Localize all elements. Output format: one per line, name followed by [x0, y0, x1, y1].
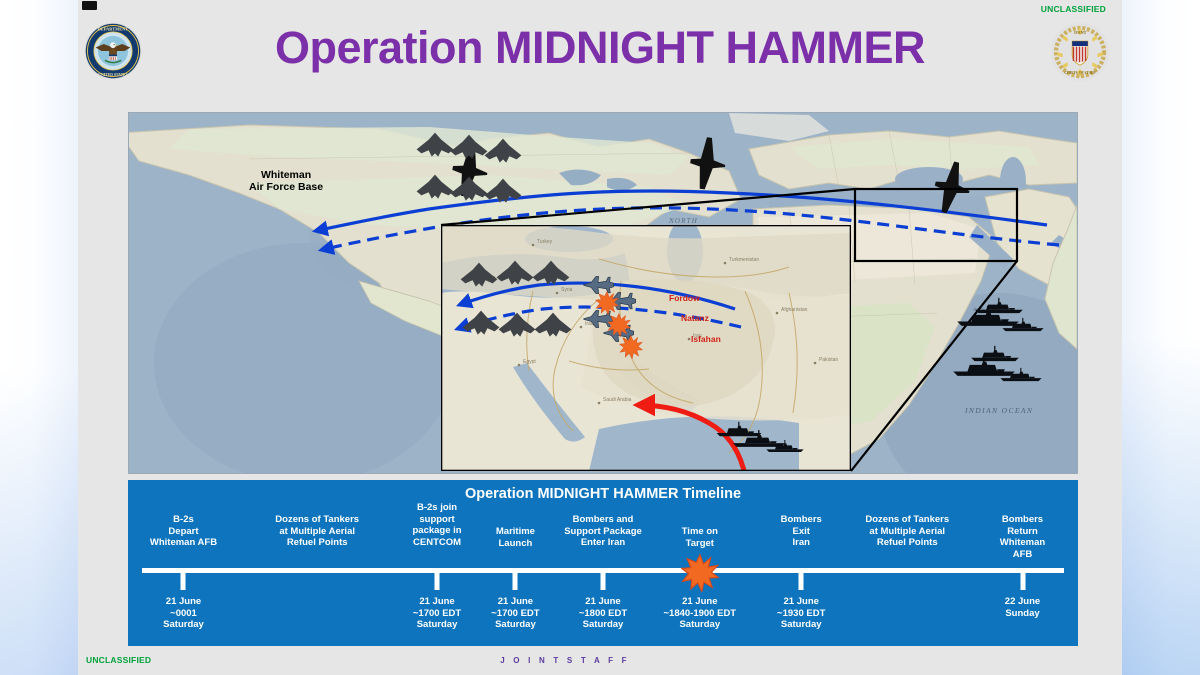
svg-text:Afghanistan: Afghanistan — [781, 307, 808, 313]
time-on-target-burst-icon — [681, 554, 719, 592]
timeline-date-label-8: 22 JuneSunday — [1005, 596, 1040, 619]
map-target-label-fordow: Fordow — [669, 293, 700, 303]
timeline-date-label-5: 21 June~1840-1900 EDTSaturday — [663, 596, 736, 631]
timeline-event-4-line-1: Support Package — [564, 526, 642, 538]
timeline-date-3-line-1: ~1700 EDT — [491, 608, 539, 620]
svg-text:Syria: Syria — [561, 287, 573, 293]
svg-text:INDIAN OCEAN: INDIAN OCEAN — [964, 406, 1033, 415]
timeline-event-2-line-1: support — [412, 514, 461, 526]
svg-text:Saudi Arabia: Saudi Arabia — [603, 397, 632, 403]
timeline-event-6-line-0: Bombers — [781, 514, 822, 526]
timeline-event-5-line-0: Time on — [682, 526, 718, 538]
timeline-event-label-3: MaritimeLaunch — [496, 526, 535, 549]
timeline-date-6-line-1: ~1930 EDT — [777, 608, 825, 620]
timeline-event-1-line-1: at Multiple Aerial — [275, 526, 359, 538]
timeline-date-2-line-2: Saturday — [413, 619, 461, 631]
svg-text:Pakistan: Pakistan — [819, 357, 838, 363]
svg-text:Turkmenistan: Turkmenistan — [729, 257, 759, 263]
timeline-date-0-line-2: Saturday — [163, 619, 204, 631]
timeline-tick-8 — [1020, 573, 1025, 590]
timeline-date-3-line-2: Saturday — [491, 619, 539, 631]
svg-text:NORTH: NORTH — [668, 217, 698, 225]
timeline-date-4-line-0: 21 June — [579, 596, 627, 608]
timeline-event-2-line-0: B-2s join — [412, 502, 461, 514]
timeline-event-label-4: Bombers andSupport PackageEnter Iran — [564, 514, 642, 549]
map-graphic: NORTH ATLANTIC OCEAN INDIAN OCEAN Arabia… — [129, 113, 1077, 473]
timeline-event-4-line-2: Enter Iran — [564, 537, 642, 549]
map-target-label-isfahan: Isfahan — [691, 334, 721, 344]
timeline-date-3-line-0: 21 June — [491, 596, 539, 608]
timeline-date-2-line-1: ~1700 EDT — [413, 608, 461, 620]
operation-timeline: Operation MIDNIGHT HAMMER Timeline B-2sD… — [128, 480, 1078, 646]
timeline-date-label-6: 21 June~1930 EDTSaturday — [777, 596, 825, 631]
timeline-event-label-2: B-2s joinsupportpackage inCENTCOM — [412, 502, 461, 548]
timeline-date-0-line-1: ~0001 — [163, 608, 204, 620]
timeline-event-label-8: BombersReturnWhiteman AFB — [995, 514, 1051, 560]
timeline-event-6-line-2: Iran — [781, 537, 822, 549]
timeline-date-6-line-0: 21 June — [777, 596, 825, 608]
timeline-date-5-line-0: 21 June — [663, 596, 736, 608]
svg-text:Egypt: Egypt — [523, 359, 536, 365]
timeline-date-4-line-1: ~1800 EDT — [579, 608, 627, 620]
timeline-event-2-line-2: package in — [412, 525, 461, 537]
timeline-date-label-4: 21 June~1800 EDTSaturday — [579, 596, 627, 631]
operation-map: NORTH ATLANTIC OCEAN INDIAN OCEAN Arabia… — [128, 112, 1078, 474]
timeline-date-4-line-2: Saturday — [579, 619, 627, 631]
timeline-event-7-line-1: at Multiple Aerial — [865, 526, 949, 538]
timeline-event-4-line-0: Bombers and — [564, 514, 642, 526]
timeline-date-6-line-2: Saturday — [777, 619, 825, 631]
timeline-date-label-0: 21 June~0001Saturday — [163, 596, 204, 631]
footer-joint-staff: J O I N T S T A F F — [78, 656, 1122, 665]
timeline-date-2-line-0: 21 June — [413, 596, 461, 608]
timeline-event-1-line-2: Refuel Points — [275, 537, 359, 549]
timeline-event-8-line-2: Whiteman AFB — [995, 537, 1051, 560]
timeline-tick-0 — [181, 573, 186, 590]
whiteman-line-1: Whiteman — [249, 169, 323, 181]
timeline-event-label-5: Time onTarget — [682, 526, 718, 549]
timeline-event-1-line-0: Dozens of Tankers — [275, 514, 359, 526]
timeline-date-label-3: 21 June~1700 EDTSaturday — [491, 596, 539, 631]
timeline-event-8-line-0: Bombers — [995, 514, 1051, 526]
map-label-whiteman-afb: Whiteman Air Force Base — [249, 169, 323, 194]
whiteman-line-2: Air Force Base — [249, 181, 323, 193]
timeline-tick-4 — [601, 573, 606, 590]
timeline-event-label-7: Dozens of Tankersat Multiple AerialRefue… — [865, 514, 949, 549]
timeline-event-3-line-1: Launch — [496, 538, 535, 550]
letterbox-right — [1110, 0, 1200, 675]
timeline-date-8-line-0: 22 June — [1005, 596, 1040, 608]
classification-banner-top: UNCLASSIFIED — [1041, 4, 1106, 14]
timeline-date-5-line-2: Saturday — [663, 619, 736, 631]
timeline-date-0-line-0: 21 June — [163, 596, 204, 608]
timeline-event-label-6: BombersExitIran — [781, 514, 822, 549]
svg-text:CHIEFS OF STAFF: CHIEFS OF STAFF — [1064, 71, 1096, 75]
timeline-event-label-1: Dozens of Tankersat Multiple AerialRefue… — [275, 514, 359, 549]
timeline-event-5-line-1: Target — [682, 538, 718, 550]
timeline-event-8-line-1: Return — [995, 526, 1051, 538]
timeline-tick-6 — [799, 573, 804, 590]
svg-text:UNITED STATES: UNITED STATES — [98, 73, 127, 77]
timeline-date-5-line-1: ~1840-1900 EDT — [663, 608, 736, 620]
timeline-event-3-line-0: Maritime — [496, 526, 535, 538]
timeline-date-8-line-1: Sunday — [1005, 608, 1040, 620]
briefing-slide: UNCLASSIFIED UNCLASSIFIED J O I N T S T … — [78, 0, 1122, 675]
page-title: Operation MIDNIGHT HAMMER — [78, 24, 1122, 71]
corner-marker-icon — [82, 1, 97, 10]
timeline-title: Operation MIDNIGHT HAMMER Timeline — [128, 486, 1078, 502]
timeline-event-label-0: B-2sDepartWhiteman AFB — [150, 514, 217, 549]
timeline-tick-2 — [435, 573, 440, 590]
timeline-event-0-line-1: Depart — [150, 526, 217, 538]
timeline-tick-3 — [513, 573, 518, 590]
map-target-label-natanz: Natanz — [681, 313, 709, 323]
timeline-event-2-line-3: CENTCOM — [412, 537, 461, 549]
letterbox-left — [0, 0, 90, 675]
timeline-date-label-2: 21 June~1700 EDTSaturday — [413, 596, 461, 631]
timeline-event-0-line-0: B-2s — [150, 514, 217, 526]
timeline-event-0-line-2: Whiteman AFB — [150, 537, 217, 549]
timeline-event-7-line-2: Refuel Points — [865, 537, 949, 549]
timeline-event-7-line-0: Dozens of Tankers — [865, 514, 949, 526]
timeline-event-6-line-1: Exit — [781, 526, 822, 538]
svg-text:Turkey: Turkey — [537, 239, 553, 245]
